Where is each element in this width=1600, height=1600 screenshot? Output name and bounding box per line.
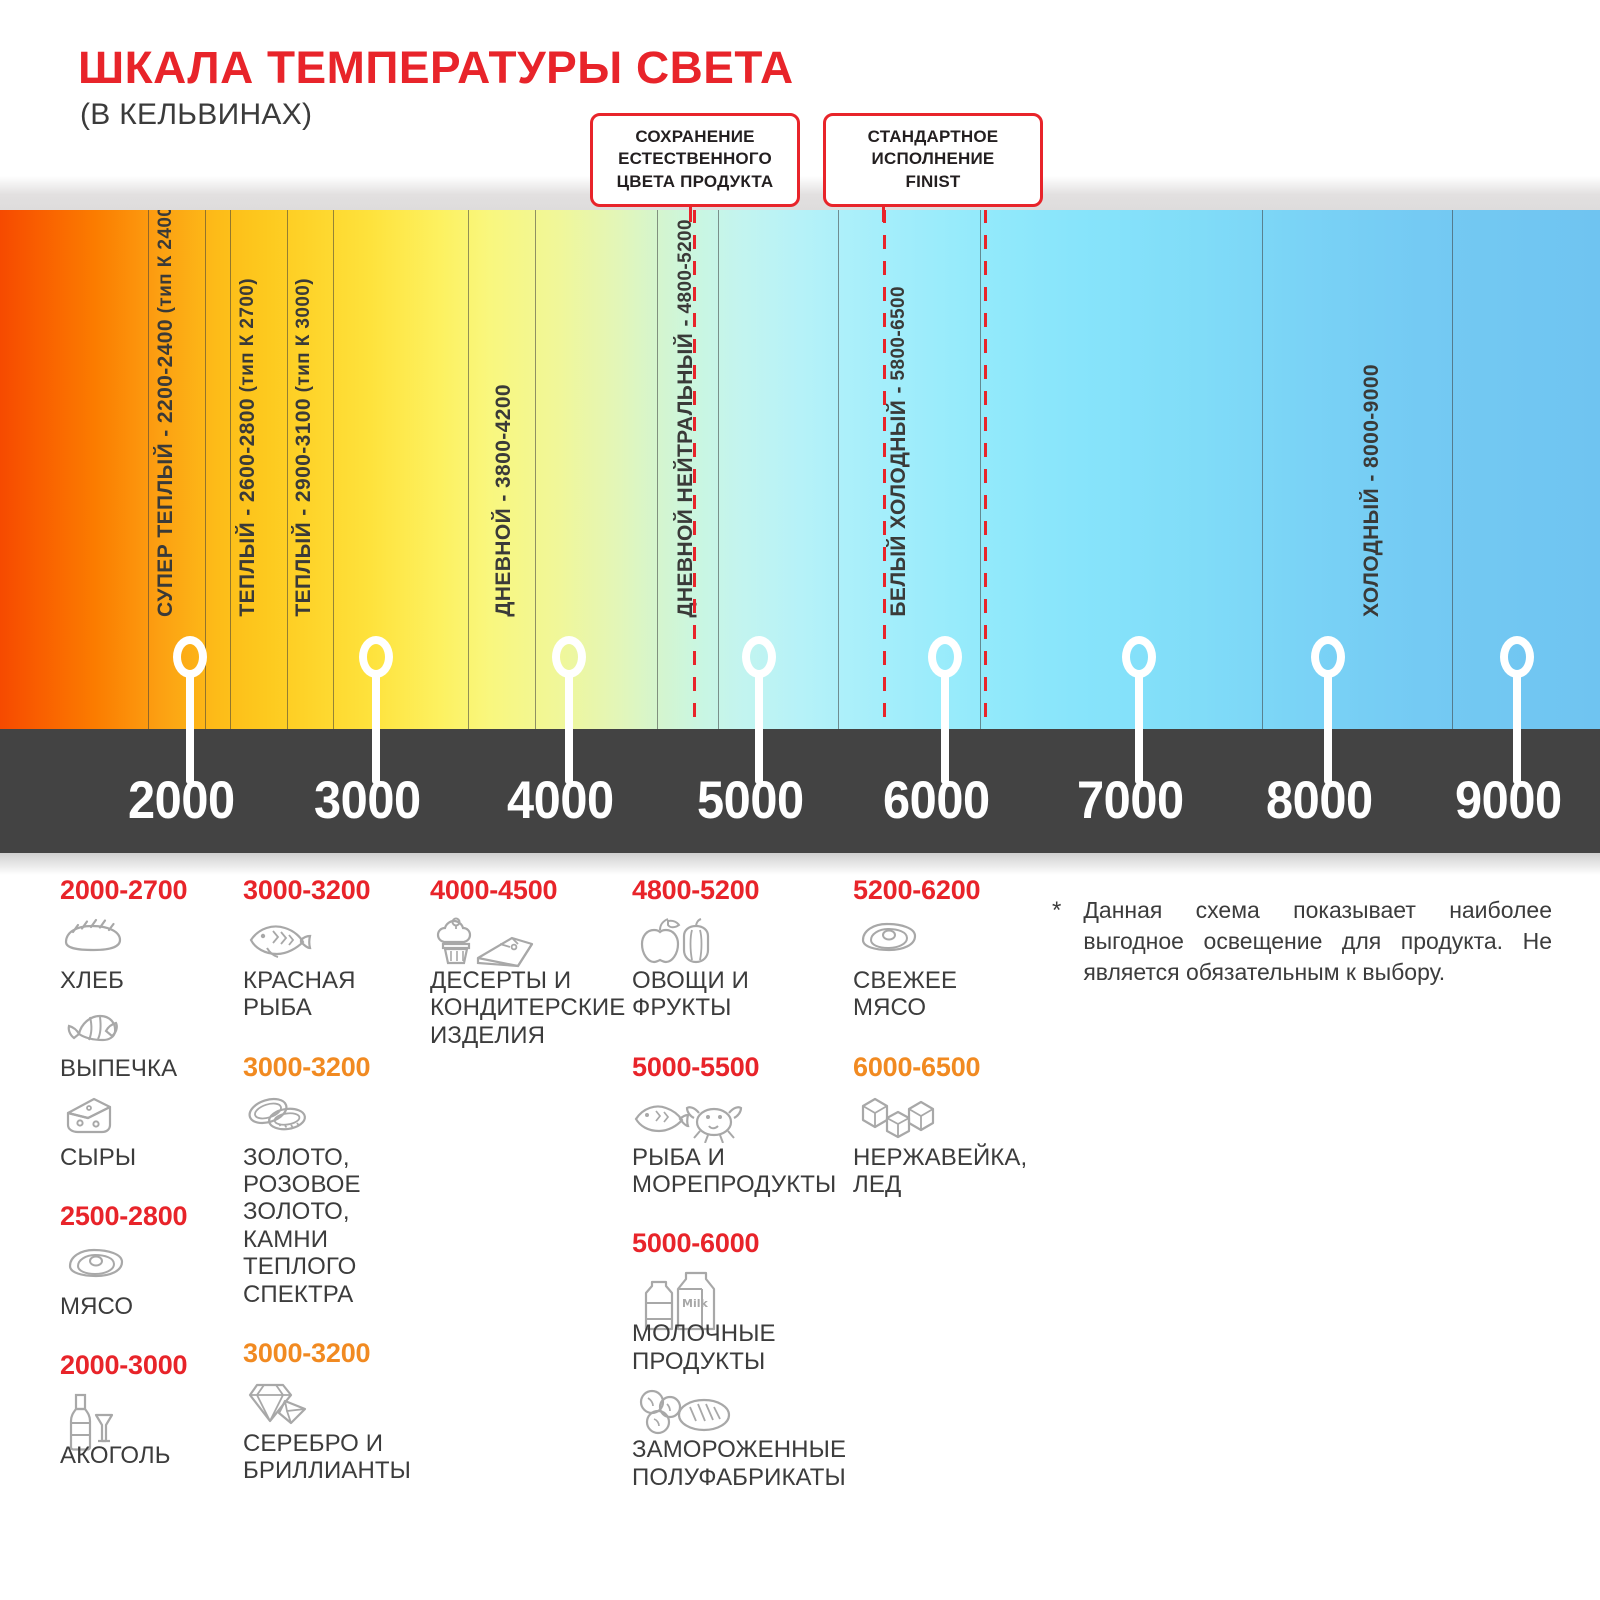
legend-item-label: СЫРЫ [60,1144,235,1171]
legend-item-label: СЕРЕБРО И БРИЛЛИАНТЫ [243,1430,428,1485]
legend-range: 4000-4500 [430,875,625,906]
bottle-glass-icon [60,1391,235,1437]
legend-item: СЫРЫ [60,1093,235,1171]
band-dashed-marker [883,209,886,729]
legend-group: 2000-3000АКОГОЛЬ [60,1350,235,1469]
legend-range: 5000-5500 [632,1052,847,1083]
band-label-line1: СУПЕР ТЕПЛЫЙ - 2200-2400 [154,319,177,617]
scale-tick-9000: 9000 [1455,770,1562,831]
legend-group: 4000-4500ДЕСЕРТЫ И КОНДИТЕРСКИЕ ИЗДЕЛИЯ [430,875,625,1049]
fish-icon [243,916,428,962]
scale-bar-shadow [0,853,1600,875]
band-divider [1262,209,1263,729]
band-label-line1: ДНЕВНОЙ - 3800-4200 [492,384,515,617]
dessert-icon [430,916,625,962]
legend-item-label: НЕРЖАВЕЙКА, ЛЕД [853,1144,1033,1199]
legend-item-label: КРАСНАЯ РЫБА [243,967,428,1022]
legend-item-label: ХЛЕБ [60,967,235,994]
band-divider [148,209,149,729]
legend-item: ЗАМОРОЖЕННЫЕ ПОЛУФАБРИКАТЫ [632,1385,847,1491]
legend-range: 6000-6500 [853,1052,1033,1083]
pin-ring [552,636,586,678]
legend-item: РЫБА И МОРЕПРОДУКТЫ [632,1093,847,1199]
fruit-vegetable-icon [632,916,847,962]
legend-item-label: АКОГОЛЬ [60,1442,235,1469]
croissant-icon [60,1004,235,1050]
band-label-6: ХОЛОДНЫЙ - 8000-9000 [1360,364,1384,617]
band-label-line2: (тип К 2700) [237,278,258,398]
legend-item-label: ОВОЩИ И ФРУКТЫ [632,967,847,1022]
pin-ring [1311,636,1345,678]
pin-ring [742,636,776,678]
band-divider [468,209,469,729]
band-label-line2: (тип К 3000) [293,278,314,398]
legend-group: 5200-6200СВЕЖЕЕ МЯСО [853,875,1033,1022]
band-divider [980,209,981,729]
footnote-text: Данная схема показывает наиболее выгодно… [1083,895,1552,988]
svg-text:Milk: Milk [682,1297,708,1310]
legend-column-2: 3000-3200КРАСНАЯ РЫБА3000-3200ЗОЛОТО, РО… [243,875,428,1485]
legend-range: 4800-5200 [632,875,847,906]
fish-crab-icon [632,1093,847,1139]
legend-item-label: РЫБА И МОРЕПРОДУКТЫ [632,1144,847,1199]
band-top-shadow [0,176,1600,210]
legend-item: СЕРЕБРО И БРИЛЛИАНТЫ [243,1379,428,1485]
band-divider [718,209,719,729]
page-title: ШКАЛА ТЕМПЕРАТУРЫ СВЕТА [78,42,794,94]
legend-item-label: ДЕСЕРТЫ И КОНДИТЕРСКИЕ ИЗДЕЛИЯ [430,967,625,1049]
footnote: * Данная схема показывает наиболее выгод… [1052,895,1552,988]
band-divider [287,209,288,729]
legend-group: 6000-6500НЕРЖАВЕЙКА, ЛЕД [853,1052,1033,1199]
legend-range: 2000-3000 [60,1350,235,1381]
legend-group: 3000-3200КРАСНАЯ РЫБА [243,875,428,1022]
pin-stem [1513,674,1521,784]
band-label-line1: ТЕПЛЫЙ - 2900-3100 [292,398,315,617]
callout-finist-standard: СТАНДАРТНОЕ ИСПОЛНЕНИЕ FINIST [823,113,1043,207]
legend-range: 3000-3200 [243,1052,428,1083]
band-label-line1: ТЕПЛЫЙ - 2600-2800 [236,398,259,617]
legend-item-label: МОЛОЧНЫЕ ПРОДУКТЫ [632,1320,847,1375]
scale-tick-6000: 6000 [883,770,990,831]
scale-tick-7000: 7000 [1077,770,1184,831]
legend-group: 2500-2800МЯСО [60,1201,235,1320]
band-dashed-marker [984,209,987,729]
band-divider [230,209,231,729]
legend-column-1: 2000-2700ХЛЕБВЫПЕЧКАСЫРЫ2500-2800МЯСО200… [60,875,235,1470]
legend-item: ДЕСЕРТЫ И КОНДИТЕРСКИЕ ИЗДЕЛИЯ [430,916,625,1049]
legend-item: ХЛЕБ [60,916,235,994]
pin-stem [755,674,763,784]
legend-item-label: ВЫПЕЧКА [60,1055,235,1082]
pin-stem [941,674,949,784]
diamond-icon [243,1379,428,1425]
scale-tick-3000: 3000 [314,770,421,831]
bread-icon [60,916,235,962]
callout-natural-color: СОХРАНЕНИЕ ЕСТЕСТВЕННОГО ЦВЕТА ПРОДУКТА [590,113,800,207]
band-dashed-marker [693,209,696,729]
band-label-5: БЕЛЫЙ ХОЛОДНЫЙ - 5800-6500 [887,286,911,617]
legend-item: КРАСНАЯ РЫБА [243,916,428,1022]
band-label-0: СУПЕР ТЕПЛЫЙ - 2200-2400 (тип К 2400) [154,199,178,617]
legend-item-label: ЗАМОРОЖЕННЫЕ ПОЛУФАБРИКАТЫ [632,1436,847,1491]
legend-item: АКОГОЛЬ [60,1391,235,1469]
rings-icon [243,1093,428,1139]
legend-item-label: СВЕЖЕЕ МЯСО [853,967,1033,1022]
legend-column-5: 5200-6200СВЕЖЕЕ МЯСО6000-6500НЕРЖАВЕЙКА,… [853,875,1033,1198]
milk-icon: Milk [632,1269,847,1315]
legend-range: 3000-3200 [243,1338,428,1369]
band-label-line2: (тип К 2400) [155,199,176,319]
steak-icon [60,1242,235,1288]
scale-tick-2000: 2000 [128,770,235,831]
band-divider [1452,209,1453,729]
scale-tick-5000: 5000 [697,770,804,831]
pin-ring [1500,636,1534,678]
legend-item-label: ЗОЛОТО, РОЗОВОЕ ЗОЛОТО, КАМНИ ТЕПЛОГО СП… [243,1144,428,1308]
legend-group: 3000-3200ЗОЛОТО, РОЗОВОЕ ЗОЛОТО, КАМНИ Т… [243,1052,428,1308]
pin-stem [186,674,194,784]
legend-column-4: 4800-5200ОВОЩИ И ФРУКТЫ5000-5500РЫБА И М… [632,875,847,1491]
legend-group: 3000-3200СЕРЕБРО И БРИЛЛИАНТЫ [243,1338,428,1485]
pin-ring [173,636,207,678]
legend-range: 5200-6200 [853,875,1033,906]
spectrum-band: СУПЕР ТЕПЛЫЙ - 2200-2400 (тип К 2400)ТЕП… [0,209,1600,729]
legend-item: МЯСО [60,1242,235,1320]
legend-group: 2000-2700ХЛЕБВЫПЕЧКАСЫРЫ [60,875,235,1171]
legend-range: 2500-2800 [60,1201,235,1232]
frozen-food-icon [632,1385,847,1431]
legend-group: 5000-6000MilkМОЛОЧНЫЕ ПРОДУКТЫЗАМОРОЖЕНН… [632,1228,847,1490]
page-subtitle: (В КЕЛЬВИНАХ) [80,98,312,132]
cheese-icon [60,1093,235,1139]
pin-stem [1135,674,1143,784]
pin-stem [372,674,380,784]
pin-ring [1122,636,1156,678]
band-divider [838,209,839,729]
footnote-asterisk: * [1052,895,1061,988]
legend-range: 2000-2700 [60,875,235,906]
legend-item: НЕРЖАВЕЙКА, ЛЕД [853,1093,1033,1199]
band-divider [535,209,536,729]
band-label-3: ДНЕВНОЙ - 3800-4200 [492,384,516,617]
legend-item: СВЕЖЕЕ МЯСО [853,916,1033,1022]
legend-item: MilkМОЛОЧНЫЕ ПРОДУКТЫ [632,1269,847,1375]
band-divider [657,209,658,729]
band-label-1: ТЕПЛЫЙ - 2600-2800 (тип К 2700) [236,278,260,617]
pin-ring [928,636,962,678]
band-label-line1: ХОЛОДНЫЙ - 8000-9000 [1360,364,1383,617]
pin-stem [1324,674,1332,784]
legend-group: 5000-5500РЫБА И МОРЕПРОДУКТЫ [632,1052,847,1199]
pin-ring [359,636,393,678]
legend-group: 4800-5200ОВОЩИ И ФРУКТЫ [632,875,847,1022]
steak-icon [853,916,1033,962]
scale-tick-4000: 4000 [507,770,614,831]
pin-stem [565,674,573,784]
band-label-line1: БЕЛЫЙ ХОЛОДНЫЙ - [887,387,910,617]
band-label-line2: 5800-6500 [888,286,909,386]
legend-column-3: 4000-4500ДЕСЕРТЫ И КОНДИТЕРСКИЕ ИЗДЕЛИЯ [430,875,625,1049]
legend-range: 3000-3200 [243,875,428,906]
legend-item: ЗОЛОТО, РОЗОВОЕ ЗОЛОТО, КАМНИ ТЕПЛОГО СП… [243,1093,428,1308]
ice-cubes-icon [853,1093,1033,1139]
scale-tick-8000: 8000 [1266,770,1373,831]
legend-item: ВЫПЕЧКА [60,1004,235,1082]
band-label-2: ТЕПЛЫЙ - 2900-3100 (тип К 3000) [292,278,316,617]
legend-item: ОВОЩИ И ФРУКТЫ [632,916,847,1022]
legend-range: 5000-6000 [632,1228,847,1259]
legend-item-label: МЯСО [60,1293,235,1320]
page-header: ШКАЛА ТЕМПЕРАТУРЫ СВЕТА (В КЕЛЬВИНАХ) [0,0,1600,200]
band-divider [333,209,334,729]
